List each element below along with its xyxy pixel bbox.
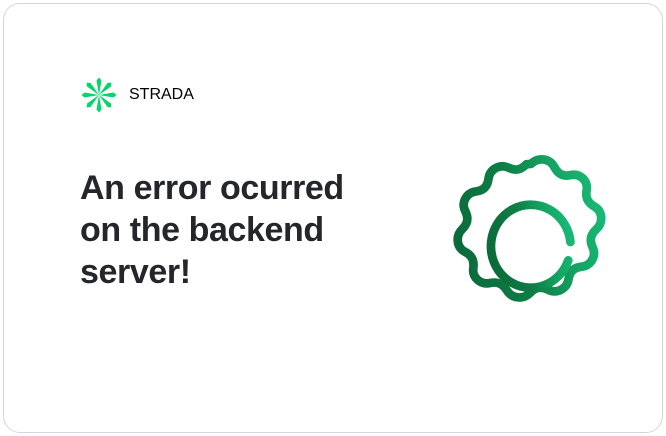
error-message: An error ocurred on the backend server! [80,167,380,293]
starburst-icon [80,76,118,114]
brand-wordmark: STRADA [129,86,194,104]
gear-icon [448,142,614,312]
error-card: STRADA An error ocurred on the backend s… [3,3,663,433]
brand-lockup: STRADA [80,76,194,114]
